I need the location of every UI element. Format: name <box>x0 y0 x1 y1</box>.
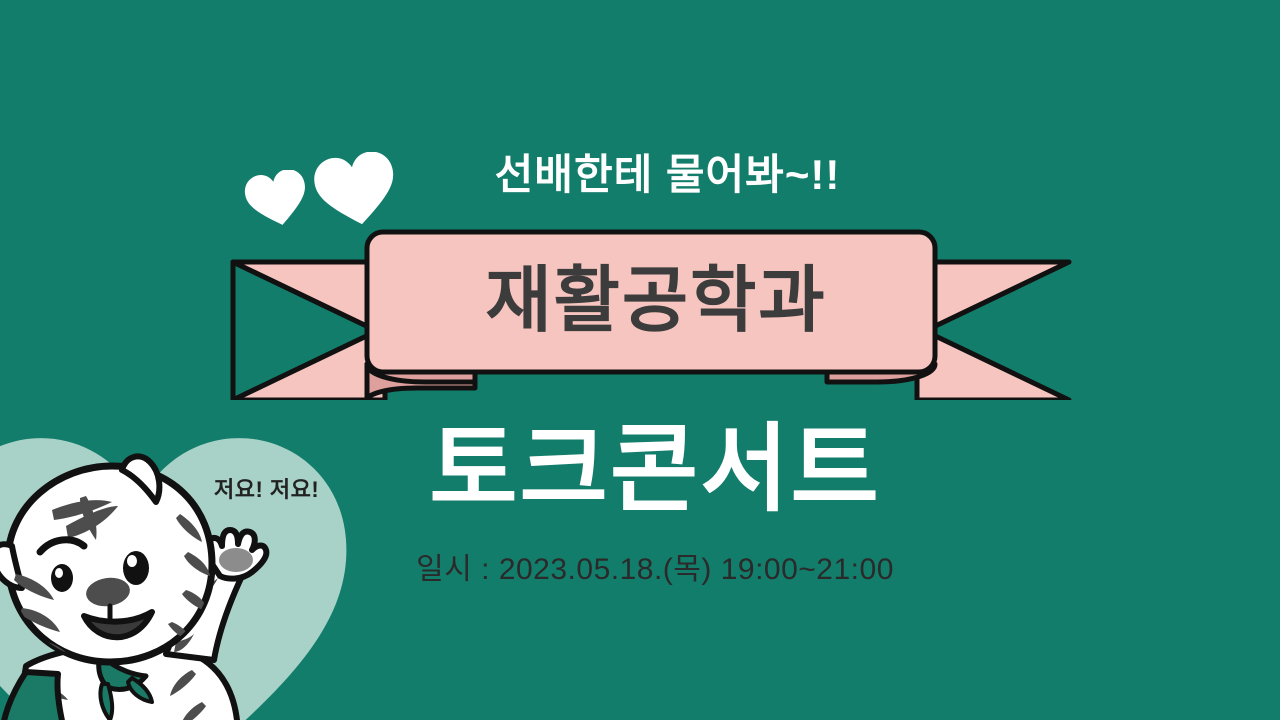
tiger-mascot-icon <box>0 448 320 720</box>
tagline: 선배한테 물어봐~!! <box>0 154 1280 196</box>
event-poster: 선배한테 물어봐~!! 재활공학과 토크콘서트 일시 : 2023.05.18.… <box>0 0 1280 720</box>
department-banner-label: 재활공학과 <box>367 232 945 374</box>
